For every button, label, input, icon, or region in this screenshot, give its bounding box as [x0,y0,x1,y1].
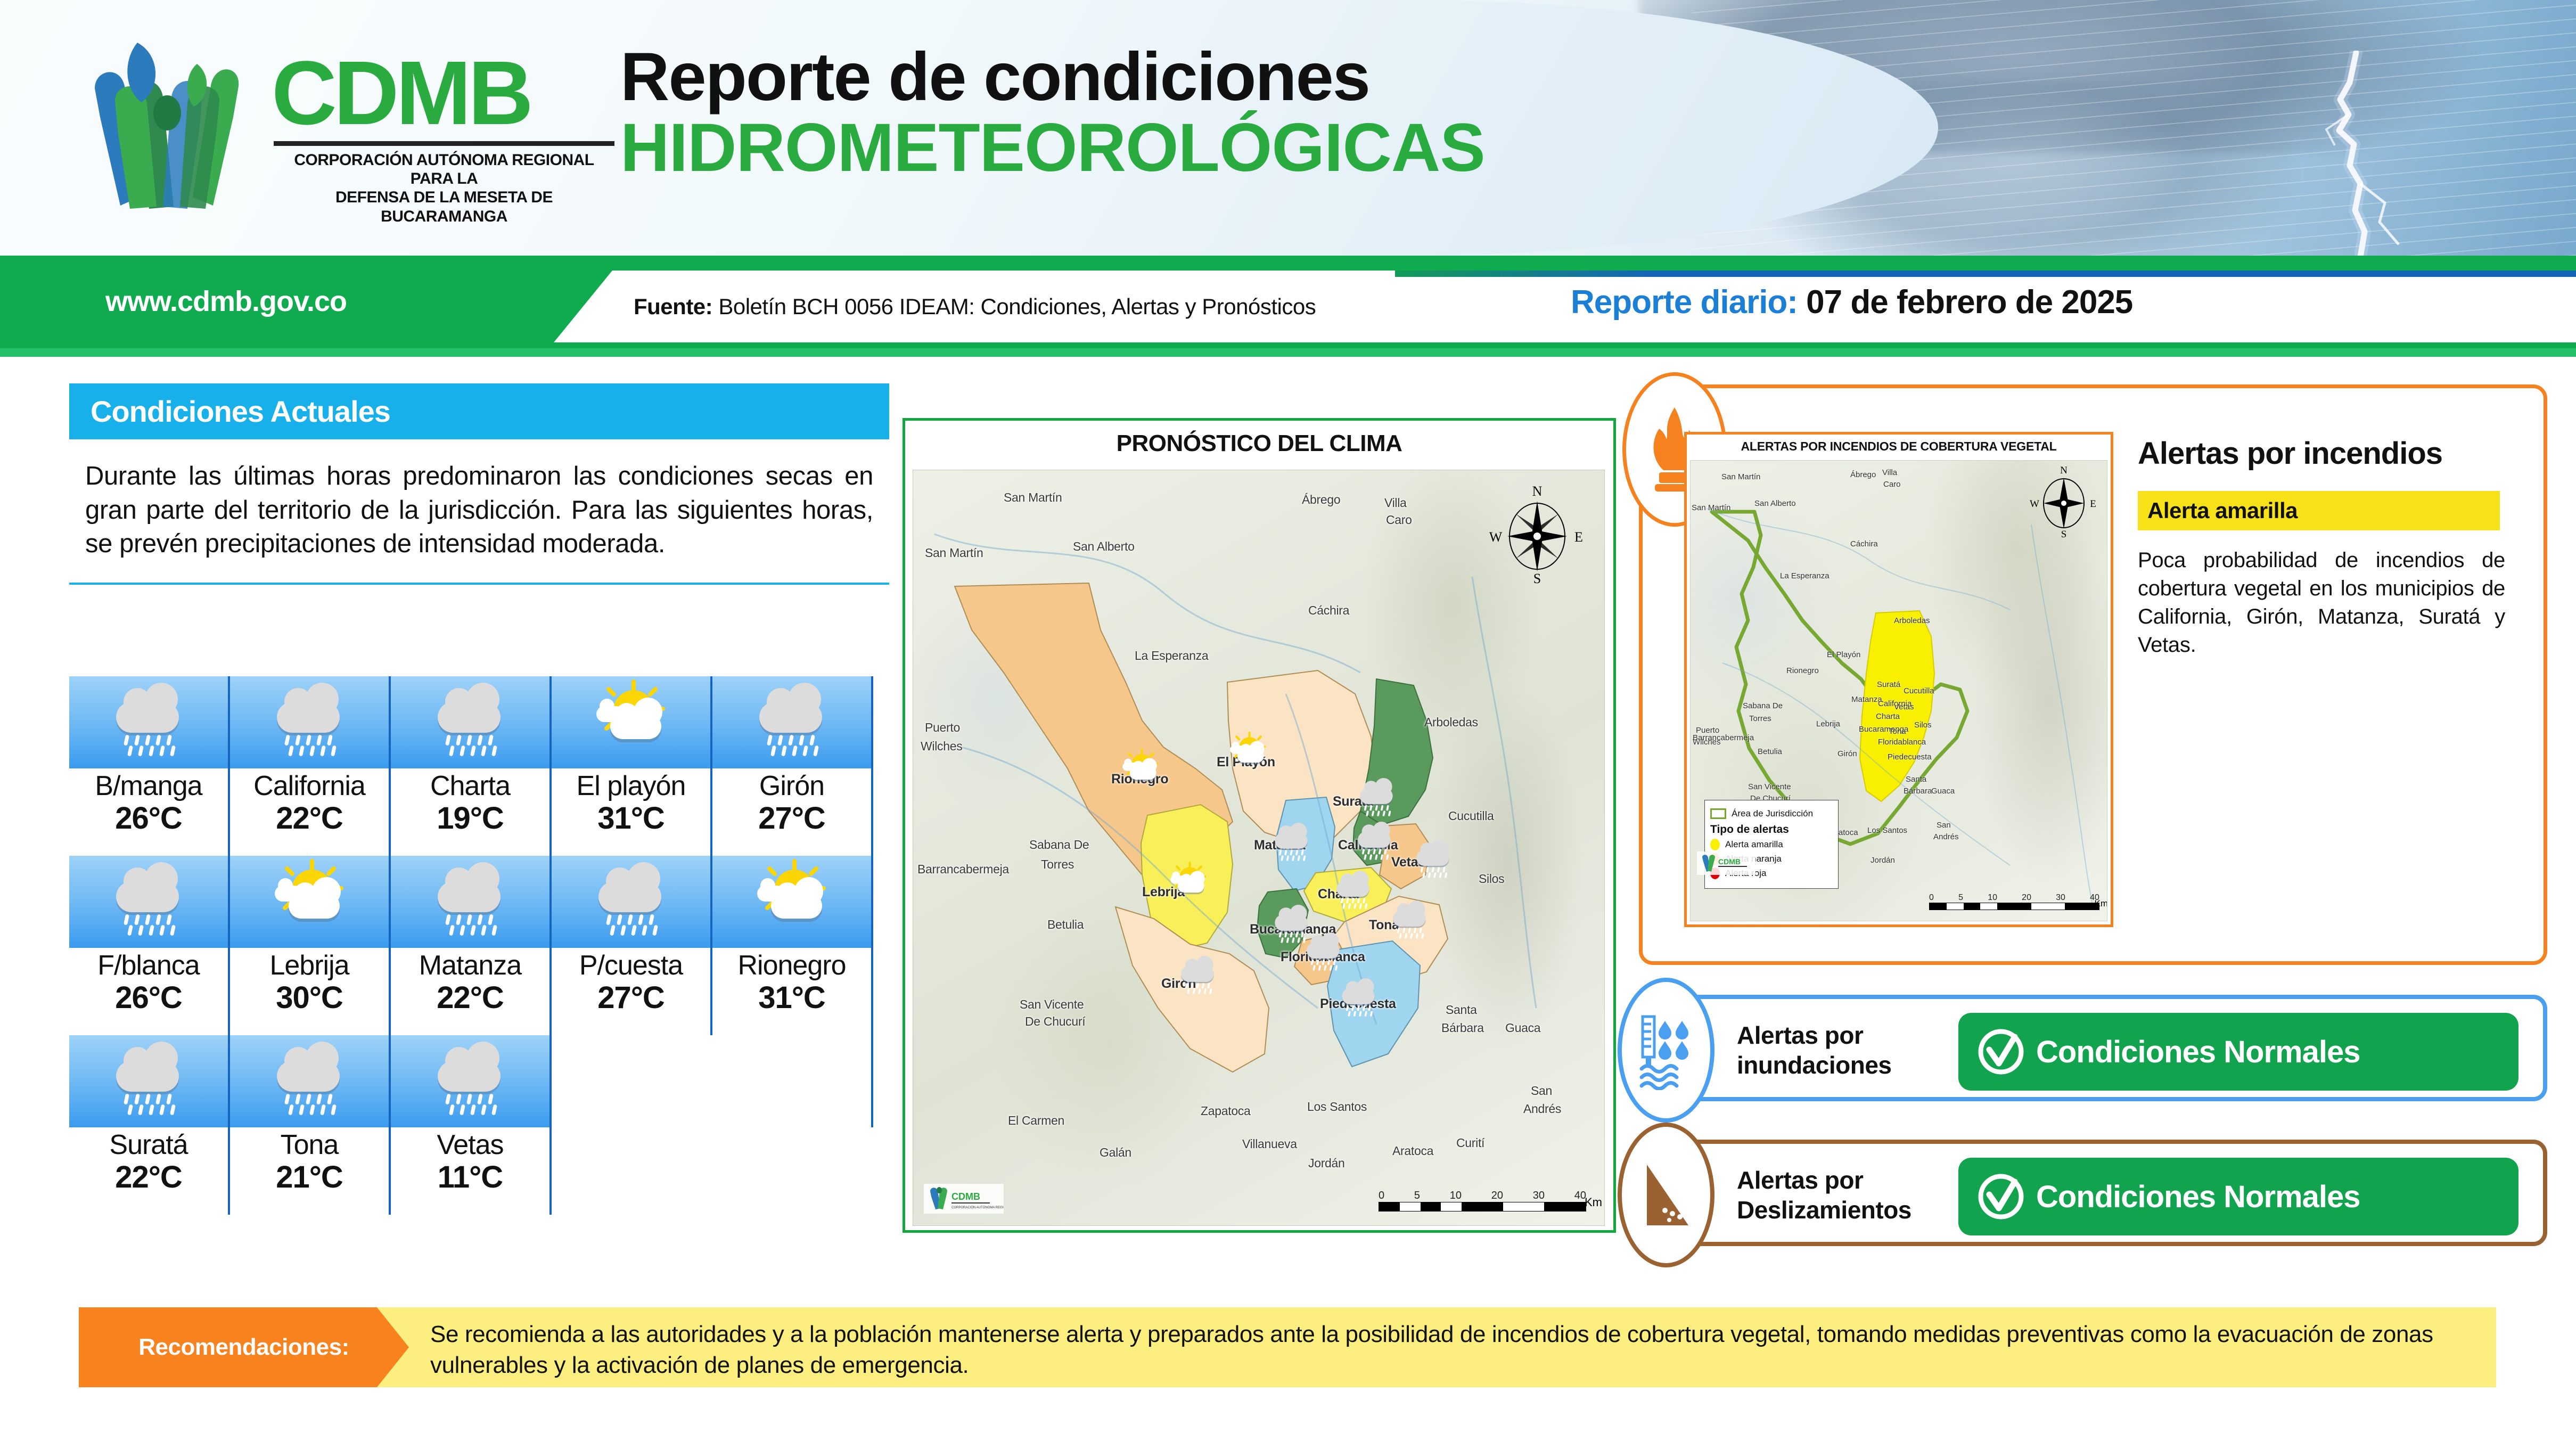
map-place-label: Curití [1456,1136,1484,1150]
page-title: Reporte de condiciones HIDROMETEOROLÓGIC… [620,43,1485,184]
map-place-label: La Esperanza [1135,649,1208,663]
scale-tick: 10 [1450,1190,1462,1202]
fire-map-place-label: Cucutilla [1904,686,1934,695]
forecast-cell[interactable]: Lebrija30°C [230,856,391,1035]
forecast-label-area: Tona21°C [230,1127,391,1215]
forecast-label-area: Vetas11°C [391,1127,552,1215]
scale-tick: 0 [1379,1190,1384,1202]
fire-map-title: ALERTAS POR INCENDIOS DE COBERTURA VEGET… [1687,435,2111,457]
map-place-label: San Martín [1004,490,1062,505]
forecast-temperature: 19°C [391,801,549,836]
forecast-cell[interactable]: Suratá22°C [69,1035,230,1215]
rain-cloud-icon [1177,959,1219,995]
forecast-temperature: 31°C [552,801,710,836]
map-place-label: Puerto [925,721,960,735]
svg-text:CDMB: CDMB [1718,857,1741,866]
map-place-label: Barrancabermeja [917,862,1009,877]
landslide-label-line1: Alertas por [1737,1165,1945,1195]
fire-map-place-label: San Martín [1721,472,1760,481]
map-place-label: San Martín [925,546,983,560]
forecast-grid: B/manga26°C California22°C Charta19°C El… [69,676,873,1215]
rain-cloud-icon [109,1047,188,1116]
map-weather-icon [1393,826,1435,862]
legend-item: Alerta amarilla [1710,839,1833,850]
forecast-icon-area [230,1035,391,1127]
source-label: Fuente: [634,294,712,319]
fire-map-place-label: San Vicente [1748,782,1791,791]
forecast-temperature: 30°C [230,981,389,1016]
sun-cloud-icon [752,867,832,937]
map-weather-icon [1319,964,1360,1001]
fire-map-place-label: Los Santos [1867,826,1907,835]
rain-cloud-icon [1354,824,1396,861]
forecast-city: California [230,771,389,801]
fire-map-compass-icon: N S E W [2029,465,2098,539]
sun-cloud-icon [591,688,671,757]
cdmb-people-icon [69,37,266,213]
forecast-cell[interactable]: El playón31°C [552,676,712,856]
forecast-cell[interactable]: Vetas11°C [391,1035,552,1215]
forecast-temperature: 26°C [69,981,228,1016]
map-place-label: De Chucurí [1025,1014,1085,1029]
fire-alerts-text: Alertas por incendios Alerta amarilla Po… [2138,437,2532,659]
map-cdmb-logo: CDMB CORPORACIÓN AUTÓNOMA REGIONAL [924,1184,1004,1214]
current-conditions-title: Condiciones Actuales [91,394,390,429]
forecast-cell-empty [552,1035,712,1215]
sun-cloud-icon [1168,866,1209,902]
fire-map-place-label: Ábrego [1850,470,1876,479]
logo-acronym: CDMB [272,51,614,137]
forecast-cell[interactable]: Rionegro31°C [712,856,873,1035]
forecast-label-area: California22°C [230,768,391,856]
rain-cloud-icon [109,867,188,937]
forecast-city: Girón [712,771,871,801]
forecast-icon-area [69,676,230,768]
fire-alerts-description: Poca probabilidad de incendios de cobert… [2138,546,2505,660]
scale-tick: 10 [1988,893,1997,903]
rain-cloud-icon [1389,903,1431,939]
landslide-status-text: Condiciones Normales [2036,1179,2360,1215]
map-place-label: San [1531,1084,1552,1098]
rain-cloud-icon [430,867,510,937]
alert-types-title: Tipo de alertas [1710,823,1833,836]
compass-rose-icon: N S E W [1489,483,1585,584]
landslide-status-badge: Condiciones Normales [1958,1158,2518,1235]
map-place-label: Guaca [1505,1021,1540,1035]
scale-tick: 5 [1414,1190,1420,1202]
map-place-label: Caro [1386,513,1412,527]
current-conditions-body: Durante las últimas horas predominaron l… [69,439,889,579]
map-place-label: Galán [1100,1145,1131,1160]
title-line-1: Reporte de condiciones [620,43,1485,112]
fire-alerts-card: ALERTAS POR INCENDIOS DE COBERTURA VEGET… [1639,384,2547,965]
map-place-label: San Alberto [1073,539,1135,554]
map-place-label: Santa [1446,1003,1477,1017]
forecast-label-area: Matanza22°C [391,948,552,1035]
fire-map-place-label: Barrancabermeja [1693,733,1754,742]
landslide-badge [1618,1123,1714,1267]
forecast-city: Tona [230,1129,389,1160]
fire-map-place-label: Floridablanca [1878,738,1926,747]
landslide-label-line2: Deslizamientos [1737,1195,1945,1225]
fire-map-place-label: Arboledas [1894,616,1930,625]
fire-map-place-label: Girón [1837,749,1857,758]
map-weather-icon [1337,764,1379,800]
fire-map-place-label: Charta [1876,712,1900,721]
sun-cloud-icon [1227,736,1269,772]
title-line-2: HIDROMETEOROLÓGICAS [620,112,1485,184]
fire-map-place-label: San Alberto [1754,499,1796,508]
flood-label-line2: inundaciones [1737,1050,1945,1080]
rain-cloud-icon [430,688,510,757]
flood-label-line1: Alertas por [1737,1020,1945,1050]
forecast-icon-area [552,856,712,948]
rain-cloud-icon [1271,825,1312,862]
fire-alerts-map[interactable]: ALERTAS POR INCENDIOS DE COBERTURA VEGET… [1684,432,2113,927]
map-place-label: Ábrego [1302,493,1340,507]
map-weather-icon [1314,857,1355,893]
flood-gauge-icon [1637,1010,1695,1090]
weather-forecast-map: PRONÓSTICO DEL CLIMA [903,418,1616,1233]
fire-map-place-label: Caro [1883,480,1901,489]
fire-map-scalebar: 0510203040 [1929,893,2099,910]
recommendations-tag: Recomendaciones: [79,1307,409,1387]
map-weather-icon [1208,719,1250,756]
svg-text:CDMB: CDMB [951,1191,980,1202]
recommendations-tag-label: Recomendaciones: [138,1334,349,1361]
map-place-label: Betulia [1047,918,1084,932]
forecast-label-area: Suratá22°C [69,1127,230,1215]
map-place-label: Wilches [921,739,962,754]
forecast-city: Rionegro [712,950,871,981]
fire-map-place-label: Cáchira [1850,539,1878,549]
forecast-city: El playón [552,771,710,801]
forecast-temperature: 27°C [712,801,871,836]
source-text: Fuente: Boletín BCH 0056 IDEAM: Condicio… [634,294,1316,320]
svg-text:S: S [1533,571,1541,584]
forecast-city: Matanza [391,950,549,981]
fire-alert-level-badge: Alerta amarilla [2138,491,2500,530]
sun-cloud-icon [269,867,349,937]
recommendations-bar: Recomendaciones: Se recomienda a las aut… [79,1307,2496,1387]
fire-map-place-label: Piedecuesta [1888,752,1932,762]
forecast-icon-area [712,856,873,948]
legend-swatch [1710,839,1720,850]
landslide-icon [1637,1155,1695,1235]
fire-map-place-label: Silos [1914,721,1932,730]
fire-map-place-label: San [1937,821,1951,830]
forecast-label-area: F/blanca26°C [69,948,230,1035]
forecast-icon-area [69,856,230,948]
forecast-icon-area [69,1035,230,1127]
fire-map-place-label: Guaca [1931,787,1955,796]
fire-map-place-label: San Martín [1692,503,1730,512]
forecast-label-area: P/cuesta27°C [552,948,712,1035]
legend-label: Alerta amarilla [1725,839,1783,850]
fire-map-place-label: Torres [1749,714,1771,723]
cdmb-logo: CDMB CORPORACIÓN AUTÓNOMA REGIONAL PARA … [69,37,612,213]
map-place-label: Villanueva [1242,1137,1297,1151]
forecast-label-area: B/manga26°C [69,768,230,856]
forecast-cell-empty [712,1035,873,1215]
svg-text:W: W [2030,498,2039,510]
report-date-label: Reporte diario: [1571,284,1798,321]
map-place-label: Arboledas [1424,715,1478,730]
map-place-label: San Vicente [1020,997,1084,1012]
map-place-label: Cáchira [1308,603,1349,618]
forecast-icon-area [552,676,712,768]
fire-map-place-label: Jordán [1871,856,1895,865]
flood-status-text: Condiciones Normales [2036,1034,2360,1070]
svg-text:E: E [2090,498,2096,510]
svg-text:W: W [1489,529,1503,545]
rain-cloud-icon [269,688,349,757]
fire-map-scale-unit: Km [2095,898,2108,909]
rain-cloud-icon [430,1047,510,1116]
forecast-icon-area [712,676,873,768]
svg-text:S: S [2061,529,2067,539]
forecast-cell[interactable]: Matanza22°C [391,856,552,1035]
forecast-temperature: 27°C [552,981,710,1016]
forecast-cell[interactable]: F/blanca26°C [69,856,230,1035]
fire-map-place-label: Andrés [1933,832,1959,841]
forecast-row: Suratá22°C Tona21°C Vetas11°C [69,1035,873,1215]
forecast-icon-area [391,676,552,768]
rain-cloud-icon [1333,873,1374,910]
report-date-line: Reporte diario: 07 de febrero de 2025 [1571,283,2132,321]
fire-map-place-label: Betulia [1758,747,1782,756]
website-link[interactable]: www.cdmb.gov.co [105,285,347,318]
fire-map-canvas: San MartínÁbregoVillaCaroSan AlbertoSan … [1690,460,2107,921]
svg-text:N: N [2060,465,2068,476]
report-date-value: 07 de febrero de 2025 [1806,284,2132,321]
forecast-city: P/cuesta [552,950,710,981]
forecast-temperature: 22°C [230,801,389,836]
logo-subtitle-line2: DEFENSA DE LA MESETA DE BUCARAMANGA [274,188,614,226]
flood-alerts-card: Alertas por inundaciones Condiciones Nor… [1639,995,2547,1101]
flood-badge [1618,978,1714,1123]
scale-tick: 5 [1958,893,1963,903]
forecast-row: F/blanca26°C Lebrija30°C Matanza22°C P/c… [69,856,873,1035]
map-place-label: El Carmen [1008,1114,1064,1128]
check-circle-icon [1975,1026,2027,1077]
map-place-label: Villa [1384,496,1407,510]
jurisdiction-swatch [1710,808,1726,819]
scale-tick: 20 [2022,893,2031,903]
map-place-label: Aratoca [1392,1144,1433,1158]
forecast-cell[interactable]: California22°C [230,676,391,856]
map-place-label: Cucutilla [1448,809,1494,823]
forecast-label-area: Lebrija30°C [230,948,391,1035]
forecast-city: Suratá [69,1129,228,1160]
fire-map-place-label: Bárbara [1904,787,1932,796]
map-weather-icon [1252,809,1293,845]
fire-map-place-label: Rionegro [1786,666,1819,675]
forecast-cell[interactable]: Tona21°C [230,1035,391,1215]
forecast-temperature: 11°C [391,1160,549,1195]
scale-tick: 30 [1533,1190,1545,1202]
fire-map-place-label: Villa [1882,468,1897,477]
forecast-city: Lebrija [230,950,389,981]
info-ribbon: www.cdmb.gov.co Fuente: Boletín BCH 0056… [0,256,2576,357]
forecast-temperature: 21°C [230,1160,389,1195]
fire-map-place-label: Sabana De [1743,701,1783,710]
map-place-label: Sabana De [1029,838,1089,852]
check-circle-icon [1975,1171,2027,1222]
lightning-icon [2275,51,2435,256]
map-place-label: Silos [1479,872,1504,886]
scale-tick: 0 [1929,893,1934,903]
forecast-city: F/blanca [69,950,228,981]
fire-map-place-label: Tona [1889,727,1906,736]
map-place-label: Andrés [1523,1102,1561,1116]
sun-cloud-icon [1120,753,1161,789]
map-weather-icon [1370,887,1412,923]
forecast-label-area: Rionegro31°C [712,948,873,1035]
rain-cloud-icon [269,1047,349,1116]
flood-alerts-label: Alertas por inundaciones [1737,1020,1945,1080]
map-place-label: Torres [1041,857,1074,872]
forecast-icon-area [230,856,391,948]
map-place-label: Los Santos [1307,1100,1367,1114]
fire-map-cdmb-logo: CDMB [1697,852,1755,875]
fire-map-place-label: El Playón [1827,650,1860,659]
rain-cloud-icon [591,867,671,937]
map-place-label: Zapatoca [1201,1104,1251,1118]
forecast-icon-area [391,1035,552,1127]
forecast-row: B/manga26°C California22°C Charta19°C El… [69,676,873,856]
landslide-alerts-card: Alertas por Deslizamientos Condiciones N… [1639,1140,2547,1246]
svg-text:E: E [1574,529,1583,545]
forecast-cell[interactable]: B/manga26°C [69,676,230,856]
forecast-cell[interactable]: P/cuesta27°C [552,856,712,1035]
current-conditions-panel: Condiciones Actuales Durante las últimas… [69,383,889,585]
forecast-label-area: Girón27°C [712,768,873,856]
map-place-label: Bárbara [1441,1021,1484,1035]
forecast-label-area: Charta19°C [391,768,552,856]
map-weather-icon [1284,919,1325,955]
recommendations-text: Se recomienda a las autoridades y a la p… [430,1319,2475,1381]
fire-map-place-label: La Esperanza [1780,571,1830,580]
scale-tick: 30 [2056,893,2065,903]
forecast-icon-area [230,676,391,768]
forecast-city: B/manga [69,771,228,801]
flood-status-badge: Condiciones Normales [1958,1013,2518,1091]
logo-subtitle-line1: CORPORACIÓN AUTÓNOMA REGIONAL PARA LA [274,151,614,189]
weather-map-scale-unit: Km [1585,1196,1602,1209]
page-header: CDMB CORPORACIÓN AUTÓNOMA REGIONAL PARA … [0,0,2576,256]
svg-text:CORPORACIÓN AUTÓNOMA REGIONAL: CORPORACIÓN AUTÓNOMA REGIONAL [951,1206,1004,1209]
forecast-temperature: 26°C [69,801,228,836]
map-weather-icon [1148,849,1190,886]
forecast-city: Charta [391,771,549,801]
source-value: Boletín BCH 0056 IDEAM: Condiciones, Ale… [718,294,1316,319]
forecast-cell[interactable]: Girón27°C [712,676,873,856]
rain-cloud-icon [1413,842,1454,879]
forecast-city: Vetas [391,1129,549,1160]
fire-map-place-label: Lebrija [1816,719,1840,728]
forecast-cell[interactable]: Charta19°C [391,676,552,856]
weather-map-scalebar: 0510203040 [1379,1190,1586,1211]
weather-map-canvas[interactable]: San MartínÁbregoVillaCaroSan AlbertoSan … [913,470,1605,1226]
scale-tick: 20 [1491,1190,1503,1202]
fire-map-place-label: Santa [1906,775,1926,784]
rain-cloud-icon [1338,981,1380,1017]
forecast-temperature: 22°C [391,981,549,1016]
jurisdiction-label: Área de Jurisdicción [1732,808,1813,819]
rain-cloud-icon [109,688,188,757]
map-place-label: Jordán [1308,1156,1345,1170]
map-weather-icon [1101,736,1142,773]
svg-text:N: N [1532,484,1543,499]
fire-map-legend: Área de Jurisdicción Tipo de alertas Ale… [1704,800,1839,889]
fire-map-place-label: Suratá [1877,680,1900,689]
fire-map-place-label: Vetas [1894,702,1914,711]
landslide-alerts-label: Alertas por Deslizamientos [1737,1165,1945,1225]
map-weather-icon [1335,808,1376,844]
map-weather-icon [1158,942,1200,978]
weather-map-title: PRONÓSTICO DEL CLIMA [905,421,1613,463]
fire-map-place-label: Matanza [1851,695,1882,704]
forecast-label-area: El playón31°C [552,768,712,856]
forecast-temperature: 22°C [69,1160,228,1195]
panel-divider [69,583,889,585]
forecast-temperature: 31°C [712,981,871,1016]
fire-alerts-heading: Alertas por incendios [2138,437,2532,471]
forecast-icon-area [391,856,552,948]
current-conditions-header: Condiciones Actuales [69,383,889,439]
rain-cloud-icon [752,688,832,757]
